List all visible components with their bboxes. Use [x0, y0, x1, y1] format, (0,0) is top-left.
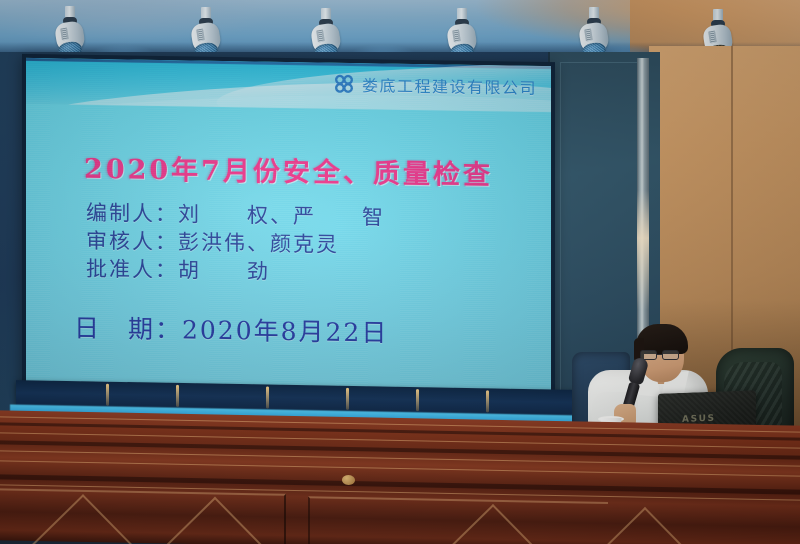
podium-desk — [0, 410, 800, 544]
desk-knob — [342, 475, 355, 485]
ceiling-spotlight — [308, 8, 344, 56]
wall-panel-inset — [560, 62, 638, 392]
glasses-icon — [640, 350, 685, 360]
wall-metal-highlight — [637, 190, 649, 310]
slide-title: 2020年7月份安全、质量检查 — [26, 146, 551, 193]
projection-screen[interactable]: 娄底工程建设有限公司 2020年7月份安全、质量检查 编制人：刘 权、严 智 审… — [26, 58, 551, 391]
slide-credits-block: 编制人：刘 权、严 智 审核人：彭洪伟、颜克灵 批准人：胡 劲 — [86, 199, 526, 290]
ceiling-spotlight — [52, 6, 88, 54]
slide-brand-row: 娄底工程建设有限公司 — [333, 72, 537, 99]
slide-line-approver: 批准人：胡 劲 — [86, 255, 526, 290]
ceiling-spotlight — [188, 7, 224, 55]
company-name: 娄底工程建设有限公司 — [362, 72, 537, 99]
ceiling-spotlight — [576, 7, 612, 55]
company-logo-icon — [333, 74, 355, 94]
slide-date-line: 日 期：2020年8月22日 — [74, 309, 388, 350]
slide-header-band: 娄底工程建设有限公司 — [26, 58, 551, 112]
ceiling-spotlight — [444, 8, 480, 56]
presentation-photo-scene: 娄底工程建设有限公司 2020年7月份安全、质量检查 编制人：刘 权、严 智 审… — [0, 0, 800, 544]
